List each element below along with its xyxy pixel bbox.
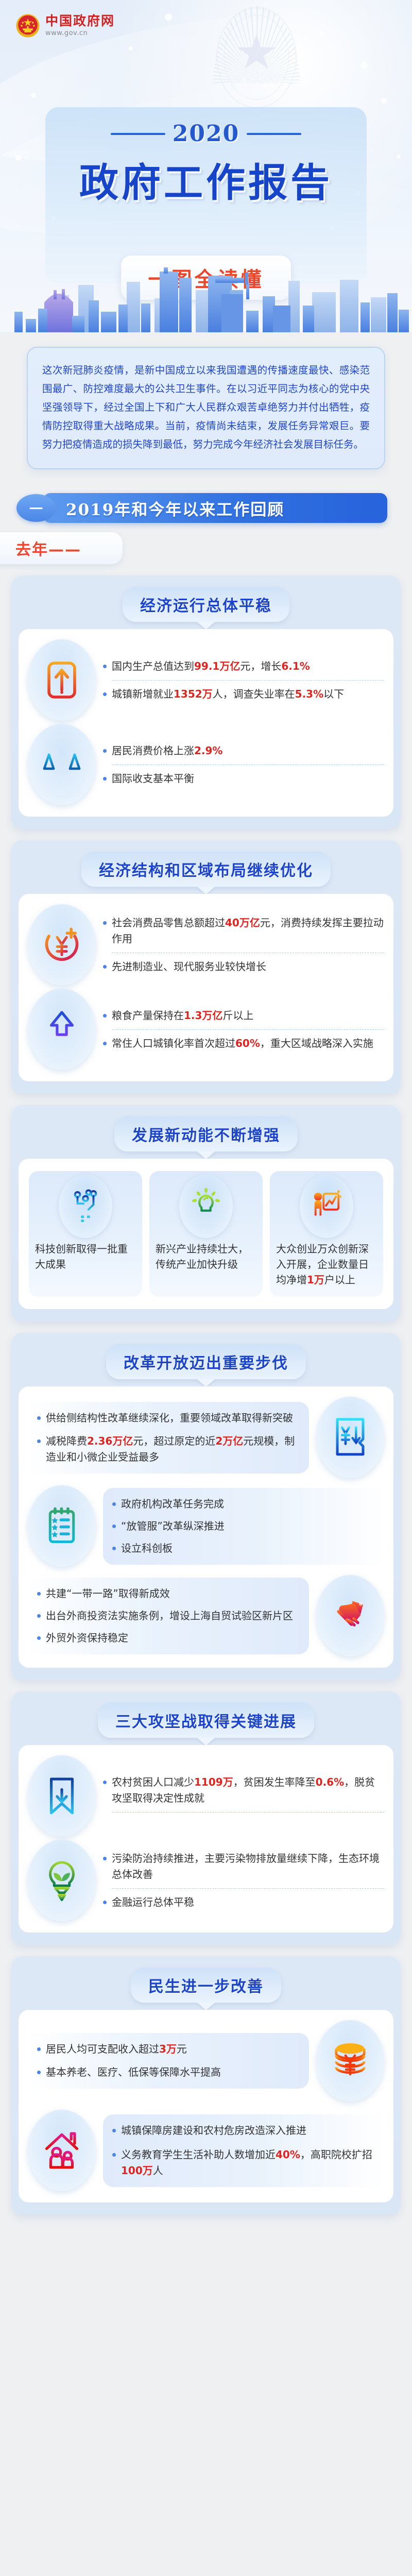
bullet-dot: [112, 1547, 116, 1550]
bullet-group: 粮食产量保持在1.3万亿斤以上 常住人口城镇化率首次超过60%，重大区域战略深入…: [103, 1008, 384, 1052]
bullet-text: 先进制造业、现代服务业较快增长: [112, 959, 266, 975]
bullet-text: 出台外商投资法实施条例，增设上海自贸试验区新片区: [46, 1608, 293, 1624]
card-title-pill: 民生进一步改善: [131, 1968, 281, 2003]
card-notch: [197, 622, 215, 630]
card-row: 农村贫困人口减少1109万，贫困发生率降至0.6%，脱贫攻坚取得决定性成就: [28, 1755, 384, 1837]
card-title: 改革开放迈出重要步伐: [124, 1354, 288, 1372]
subsection-label: 去年——: [0, 532, 123, 564]
bullet-group: 国内生产总值达到99.1万亿元，增长6.1% 城镇新增就业1352万人，调查失业…: [103, 658, 384, 702]
lightbulb-icon: [179, 1174, 233, 1238]
list-item: 污染防治持续推进，主要污染物排放量继续下降，生态环境总体改善: [103, 1851, 384, 1883]
trio-item: 大众创业万众创新深入开展，企业数量日均净增1万户以上: [270, 1171, 383, 1297]
bullet-dot: [112, 2153, 116, 2157]
list-item: 社会消费品零售总额超过40万亿元，消费持续发挥主要拉动作用: [103, 915, 384, 947]
yuan-plus-icon: [28, 904, 96, 986]
bullet-dot: [103, 665, 107, 668]
card-row: 居民消费价格上涨2.9% 国际收支基本平衡: [28, 724, 384, 805]
gdp-up-arrow-icon: [28, 639, 96, 721]
circuit-node-icon: [59, 1174, 112, 1238]
balance-scale-icon: [28, 724, 96, 805]
card-body: 农村贫困人口减少1109万，贫困发生率降至0.6%，脱贫攻坚取得决定性成就: [19, 1745, 393, 1933]
card-title: 三大攻坚战取得关键进展: [115, 1713, 297, 1731]
list-item: 居民消费价格上涨2.9%: [103, 743, 384, 759]
presenter-chart-icon: [300, 1174, 353, 1238]
dashed-divider: [112, 1029, 384, 1030]
card-body: 国内生产总值达到99.1万亿元，增长6.1% 城镇新增就业1352万人，调查失业…: [19, 629, 393, 817]
bullet-dot: [37, 1416, 41, 1420]
list-item: 减税降费2.36万亿元，超过原定的近2万亿元规模，制造业和小微企业受益最多: [37, 1433, 300, 1465]
list-item: 设立科创板: [112, 1540, 375, 1556]
bullet-group: 政府机构改革任务完成 “放管服”改革纵深推进 设立科创板: [103, 1488, 384, 1565]
card-title-pill: 经济结构和区域布局继续优化: [81, 852, 331, 887]
list-item: 农村贫困人口减少1109万，贫困发生率降至0.6%，脱贫攻坚取得决定性成就: [103, 1774, 384, 1806]
gov-logo-title: 中国政府网: [45, 14, 115, 28]
card-economy-stable: 经济运行总体平稳 国内生: [11, 575, 401, 829]
bullet-text: 居民消费价格上涨2.9%: [112, 743, 222, 759]
bullet-dot: [103, 749, 107, 753]
list-item: 政府机构改革任务完成: [112, 1496, 375, 1512]
list-item: “放管服”改革纵深推进: [112, 1518, 375, 1534]
bullet-text: 义务教育学生生活补助人数增加近40%，高职院校扩招100万人: [121, 2147, 375, 2179]
bullet-group: 居民消费价格上涨2.9% 国际收支基本平衡: [103, 743, 384, 787]
dashed-divider: [112, 680, 384, 681]
bullet-group: 居民人均可支配收入超过3万元 基本养老、医疗、低保等保障水平提高: [28, 2033, 309, 2089]
bullet-text: 金融运行总体平稳: [112, 1894, 194, 1910]
bullet-dot: [103, 1042, 107, 1045]
bullet-text: 城镇保障房建设和农村危房改造深入推进: [121, 2123, 306, 2139]
bullet-dot: [37, 1614, 41, 1618]
card-title: 经济运行总体平稳: [140, 597, 272, 615]
national-emblem-icon: [15, 13, 40, 38]
emblem-watermark-icon: [205, 3, 308, 117]
section-title: 2019年和今年以来工作回顾: [66, 497, 284, 520]
bullet-dot: [37, 2047, 41, 2051]
card-title: 民生进一步改善: [148, 1978, 264, 1996]
bullet-group: 城镇保障房建设和农村危房改造深入推进 义务教育学生生活补助人数增加近40%，高职…: [103, 2114, 384, 2187]
list-item: 国内生产总值达到99.1万亿元，增长6.1%: [103, 658, 384, 674]
bottom-spacer: [0, 2215, 412, 2232]
card-notch: [197, 2003, 215, 2010]
intro-box: 这次新冠肺炎疫情，是新中国成立以来我国遭遇的传播速度最快、感染范围最广、防控难度…: [27, 347, 385, 469]
bullet-text: 基本养老、医疗、低保等保障水平提高: [46, 2064, 221, 2080]
intro-section: 这次新冠肺炎疫情，是新中国成立以来我国遭遇的传播速度最快、感染范围最广、防控难度…: [0, 332, 412, 487]
section-number-badge: 一: [16, 494, 56, 522]
trio-item: 新兴产业持续壮大，传统产业加快升级: [149, 1171, 263, 1297]
card-new-growth-drivers: 发展新动能不断增强: [11, 1105, 401, 1321]
bullet-dot: [112, 1502, 116, 1506]
bullet-dot: [103, 921, 107, 925]
bullet-dot: [112, 1524, 116, 1528]
gov-logo[interactable]: 中国政府网 www.gov.cn: [15, 13, 115, 38]
bullet-text: 共建“一带一路”取得新成效: [46, 1586, 170, 1602]
bullet-dot: [103, 1781, 107, 1784]
list-item: 外贸外资保持稳定: [37, 1630, 300, 1646]
card-economic-structure: 经济结构和区域布局继续优化: [11, 840, 401, 1094]
dashed-divider: [112, 953, 384, 953]
card-notch: [197, 1379, 215, 1387]
bullet-dot: [103, 777, 107, 781]
list-item: 金融运行总体平稳: [103, 1894, 384, 1910]
list-item: 常住人口城镇化率首次超过60%，重大区域战略深入实施: [103, 1036, 384, 1052]
checklist-icon: [28, 1485, 96, 1567]
dashed-divider: [112, 1888, 384, 1889]
green-leaf-bulb-icon: [28, 1840, 96, 1921]
city-skyline-illustration: [0, 266, 412, 332]
grain-up-arrow-icon: [28, 989, 96, 1070]
card-notch: [197, 1738, 215, 1745]
bullet-dot: [112, 2129, 116, 2132]
card-livelihood: 民生进一步改善: [11, 1956, 401, 2215]
bullet-text: 粮食产量保持在1.3万亿斤以上: [112, 1008, 253, 1024]
bullet-text: “放管服”改革纵深推进: [121, 1518, 225, 1534]
coin-stack-yuan-icon: [316, 2020, 384, 2102]
year-row: 2020: [45, 121, 367, 147]
card-row: 社会消费品零售总额超过40万亿元，消费持续发挥主要拉动作用 先进制造业、现代服务…: [28, 904, 384, 986]
card-title-pill: 经济运行总体平稳: [123, 587, 289, 622]
card-row: 政府机构改革任务完成 “放管服”改革纵深推进 设立科创板: [28, 1485, 384, 1567]
section-header: 2019年和今年以来工作回顾 一: [16, 493, 412, 523]
bullet-dot: [103, 692, 107, 696]
subsection-text: 去年——: [15, 537, 81, 560]
card-body: 社会消费品零售总额超过40万亿元，消费持续发挥主要拉动作用 先进制造业、现代服务…: [19, 894, 393, 1081]
section-title-bar: 2019年和今年以来工作回顾: [43, 493, 387, 523]
bullet-group: 供给侧结构性改革继续深化，重要领域改革取得新突破 减税降费2.36万亿元，超过原…: [28, 1402, 309, 1473]
list-item: 城镇保障房建设和农村危房改造深入推进: [112, 2123, 375, 2139]
card-reform-opening: 改革开放迈出重要步伐: [11, 1333, 401, 1680]
card-title-pill: 发展新动能不断增强: [114, 1116, 298, 1151]
year-rule-right: [247, 133, 301, 135]
bullet-dot: [103, 1901, 107, 1904]
intro-paragraph: 这次新冠肺炎疫情，是新中国成立以来我国遭遇的传播速度最快、感染范围最广、防控难度…: [42, 361, 370, 454]
bullet-text: 居民人均可支配收入超过3万元: [46, 2041, 187, 2057]
bullet-text: 设立科创板: [121, 1540, 173, 1556]
bullet-text: 常住人口城镇化率首次超过60%，重大区域战略深入实施: [112, 1036, 373, 1052]
bullet-dot: [103, 1857, 107, 1860]
card-notch: [197, 887, 215, 894]
bullet-text: 农村贫困人口减少1109万，贫困发生率降至0.6%，脱贫攻坚取得决定性成就: [112, 1774, 384, 1806]
card-title: 发展新动能不断增强: [132, 1127, 280, 1145]
bullet-group: 污染防治持续推进，主要污染物排放量继续下降，生态环境总体改善 金融运行总体平稳: [103, 1851, 384, 1910]
card-title-pill: 改革开放迈出重要步伐: [106, 1344, 306, 1379]
card-row: 污染防治持续推进，主要污染物排放量继续下降，生态环境总体改善 金融运行总体平稳: [28, 1840, 384, 1921]
year-rule-left: [111, 133, 165, 135]
trio-item: 科技创新取得一批重大成果: [29, 1171, 142, 1297]
infographic-page: 中国政府网 www.gov.cn 2020 政府工作报告 一图全读懂: [0, 0, 412, 2232]
card-title-pill: 三大攻坚战取得关键进展: [98, 1703, 314, 1738]
card-body: 科技创新取得一批重大成果: [19, 1159, 393, 1309]
bullet-group: 社会消费品零售总额超过40万亿元，消费持续发挥主要拉动作用 先进制造业、现代服务…: [103, 915, 384, 975]
list-item: 居民人均可支配收入超过3万元: [37, 2041, 300, 2057]
list-item: 共建“一带一路”取得新成效: [37, 1586, 300, 1602]
card-row: 粮食产量保持在1.3万亿斤以上 常住人口城镇化率首次超过60%，重大区域战略深入…: [28, 989, 384, 1070]
card-body: 居民人均可支配收入超过3万元 基本养老、医疗、低保等保障水平提高: [19, 2010, 393, 2202]
gov-logo-url: www.gov.cn: [45, 29, 115, 37]
card-row: 居民人均可支配收入超过3万元 基本养老、医疗、低保等保障水平提高: [28, 2020, 384, 2102]
dashed-divider: [112, 765, 384, 765]
hero-year: 2020: [173, 121, 239, 147]
list-item: 城镇新增就业1352万人，调查失业率在5.3%以下: [103, 686, 384, 702]
bullet-dot: [37, 2071, 41, 2074]
list-item: 国际收支基本平衡: [103, 771, 384, 787]
card-row: 共建“一带一路”取得新成效 出台外商投资法实施条例，增设上海自贸试验区新片区 外…: [28, 1575, 384, 1656]
trio-text: 科技创新取得一批重大成果: [35, 1241, 136, 1272]
bullet-group: 共建“一带一路”取得新成效 出台外商投资法实施条例，增设上海自贸试验区新片区 外…: [28, 1578, 309, 1654]
tax-cut-document-icon: [316, 1397, 384, 1478]
bullet-dot: [37, 1439, 41, 1443]
card-body: 供给侧结构性改革继续深化，重要领域改革取得新突破 减税降费2.36万亿元，超过原…: [19, 1386, 393, 1668]
trio-text: 大众创业万众创新深入开展，企业数量日均净增1万户以上: [276, 1241, 377, 1287]
card-title: 经济结构和区域布局继续优化: [99, 862, 313, 880]
card-row: 供给侧结构性改革继续深化，重要领域改革取得新突破 减税降费2.36万亿元，超过原…: [28, 1397, 384, 1478]
bullet-text: 国内生产总值达到99.1万亿元，增长6.1%: [112, 658, 310, 674]
bullet-text: 社会消费品零售总额超过40万亿元，消费持续发挥主要拉动作用: [112, 915, 384, 947]
trio-grid: 科技创新取得一批重大成果: [28, 1169, 384, 1298]
house-family-icon: [28, 2110, 96, 2191]
bullet-text: 供给侧结构性改革继续深化，重要领域改革取得新突破: [46, 1410, 293, 1426]
bullet-text: 政府机构改革任务完成: [121, 1496, 224, 1512]
card-three-battles: 三大攻坚战取得关键进展: [11, 1691, 401, 1945]
dashed-divider: [112, 1812, 384, 1812]
card-row: 国内生产总值达到99.1万亿元，增长6.1% 城镇新增就业1352万人，调查失业…: [28, 639, 384, 721]
list-item: 供给侧结构性改革继续深化，重要领域改革取得新突破: [37, 1410, 300, 1426]
bullet-text: 污染防治持续推进，主要污染物排放量继续下降，生态环境总体改善: [112, 1851, 384, 1883]
bullet-dot: [37, 1636, 41, 1640]
bullet-dot: [103, 1014, 107, 1018]
bullet-text: 减税降费2.36万亿元，超过原定的近2万亿元规模，制造业和小微企业受益最多: [46, 1433, 300, 1465]
list-item: 出台外商投资法实施条例，增设上海自贸试验区新片区: [37, 1608, 300, 1624]
trio-text: 新兴产业持续壮大，传统产业加快升级: [156, 1241, 256, 1272]
bullet-dot: [103, 965, 107, 969]
list-item: 先进制造业、现代服务业较快增长: [103, 959, 384, 975]
hero-title: 政府工作报告: [45, 151, 367, 208]
bullet-text: 国际收支基本平衡: [112, 771, 194, 787]
bullet-group: 农村贫困人口减少1109万，贫困发生率降至0.6%，脱贫攻坚取得决定性成就: [103, 1774, 384, 1818]
card-row: 城镇保障房建设和农村危房改造深入推进 义务教育学生生活补助人数增加近40%，高职…: [28, 2110, 384, 2191]
bullet-text: 外贸外资保持稳定: [46, 1630, 128, 1646]
list-item: 基本养老、医疗、低保等保障水平提高: [37, 2064, 300, 2080]
handshake-icon: [316, 1575, 384, 1656]
bullet-dot: [37, 1592, 41, 1596]
card-notch: [197, 1151, 215, 1159]
bullet-text: 城镇新增就业1352万人，调查失业率在5.3%以下: [112, 686, 344, 702]
hero-banner: 中国政府网 www.gov.cn 2020 政府工作报告 一图全读懂: [0, 0, 412, 332]
bookmark-down-arrow-icon: [28, 1755, 96, 1837]
list-item: 粮食产量保持在1.3万亿斤以上: [103, 1008, 384, 1024]
list-item: 义务教育学生生活补助人数增加近40%，高职院校扩招100万人: [112, 2147, 375, 2179]
